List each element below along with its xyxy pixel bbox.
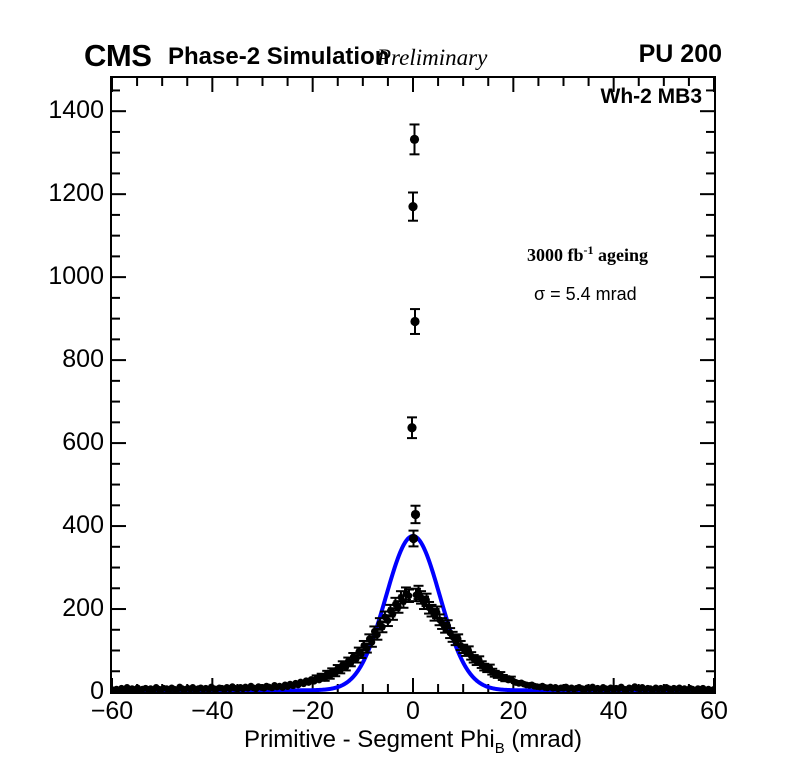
y-tick-label: 1200 [4, 181, 104, 206]
plot-canvas: CMS Phase-2 Simulation Preliminary PU 20… [0, 0, 796, 772]
x-tick-label: 20 [468, 699, 558, 724]
y-tick-label: 600 [4, 430, 104, 455]
x-axis-title: Primitive - Segment PhiB (mrad) [110, 728, 716, 761]
plot-frame [110, 76, 716, 694]
x-tick-label: 0 [368, 699, 458, 724]
x-tick-label: 60 [669, 699, 759, 724]
plot-header: CMS Phase-2 Simulation Preliminary PU 20… [0, 40, 796, 74]
pileup-label: PU 200 [639, 42, 722, 67]
preliminary-label: Preliminary [377, 46, 487, 69]
x-axis-title-main: Primitive - Segment Phi [244, 726, 495, 753]
y-tick-label: 200 [4, 596, 104, 621]
y-tick-label: 800 [4, 347, 104, 372]
x-tick-label: −20 [268, 699, 358, 724]
y-tick-label: 400 [4, 513, 104, 538]
x-tick-label: −60 [67, 699, 157, 724]
y-tick-label: 1400 [4, 98, 104, 123]
y-tick-label-group: 0200400600800100012001400 [0, 0, 104, 772]
simulation-label: Phase-2 Simulation [168, 45, 389, 69]
x-tick-label: 40 [569, 699, 659, 724]
y-tick-label: 1000 [4, 264, 104, 289]
x-axis-title-unit: (mrad) [505, 726, 582, 753]
x-tick-label: −40 [167, 699, 257, 724]
x-axis-title-subscript: B [495, 740, 505, 757]
